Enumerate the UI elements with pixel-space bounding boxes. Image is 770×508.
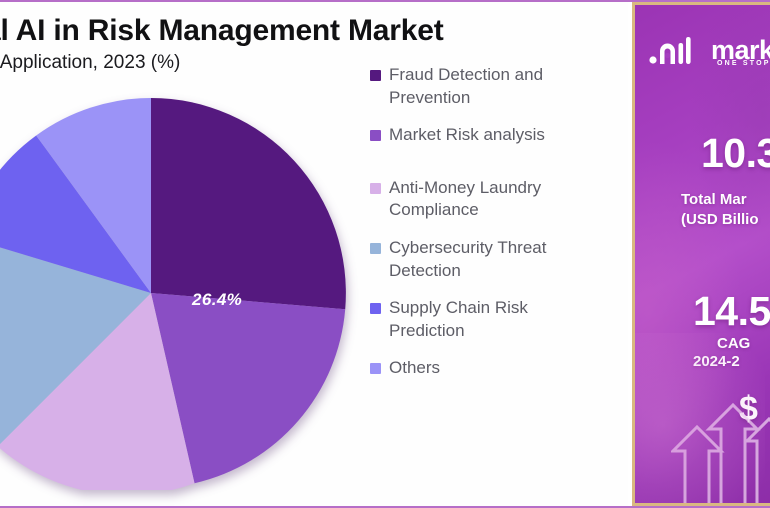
legend-swatch-icon [370, 303, 381, 314]
legend-item-market-risk[interactable]: Market Risk analysis [370, 124, 620, 147]
brand-logo-icon [649, 33, 703, 67]
legend-label: Others [389, 357, 440, 380]
chart-legend: Fraud Detection and Prevention Market Ri… [370, 64, 620, 395]
legend-label: Fraud Detection and Prevention [389, 64, 607, 109]
stat-cagr-caption: CAG [717, 335, 750, 354]
stat-total-market-units: (USD Billio [681, 211, 759, 230]
page-subtitle: y Application, 2023 (%) [0, 52, 180, 74]
legend-label: Market Risk analysis [389, 124, 545, 147]
brand-logo-tagline: ONE STOP SHO [717, 60, 770, 67]
pie-data-label: 26.4% [192, 290, 242, 310]
stat-cagr-value: 14.5 [693, 288, 770, 335]
legend-swatch-icon [370, 243, 381, 254]
legend-item-anti-money-laundry[interactable]: Anti-Money Laundry Compliance [370, 177, 620, 222]
legend-label: Anti-Money Laundry Compliance [389, 177, 607, 222]
stat-total-market-value: 10.3 [701, 130, 770, 177]
stat-total-market-caption: Total Mar [681, 191, 747, 210]
legend-label: Cybersecurity Threat Detection [389, 237, 607, 282]
legend-item-cybersecurity[interactable]: Cybersecurity Threat Detection [370, 237, 620, 282]
legend-item-supply-chain[interactable]: Supply Chain Risk Prediction [370, 297, 620, 342]
legend-swatch-icon [370, 183, 381, 194]
pie-svg [0, 98, 346, 490]
legend-swatch-icon [370, 130, 381, 141]
legend-item-others[interactable]: Others [370, 357, 620, 380]
legend-label: Supply Chain Risk Prediction [389, 297, 607, 342]
stat-cagr-period: 2024-2 [693, 353, 740, 372]
legend-swatch-icon [370, 363, 381, 374]
page-title: al AI in Risk Management Market [0, 14, 444, 48]
legend-item-fraud-detection[interactable]: Fraud Detection and Prevention [370, 64, 620, 109]
growth-arrows-icon [671, 389, 770, 506]
pie-chart: 26.4% [0, 98, 346, 490]
legend-swatch-icon [370, 70, 381, 81]
infographic-root: al AI in Risk Management Market y Applic… [0, 0, 770, 508]
chart-panel: al AI in Risk Management Market y Applic… [0, 2, 628, 506]
pie-slice-fraud-detection[interactable] [151, 98, 346, 309]
brand-stats-panel: mark ONE STOP SHO 10.3 Total Mar (USD Bi… [632, 2, 770, 506]
